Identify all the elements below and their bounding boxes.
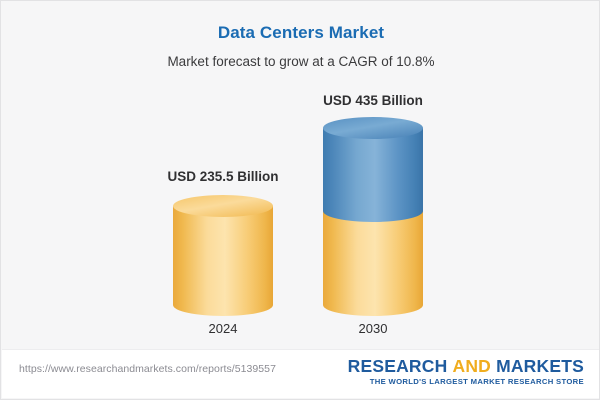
bar-cylinder-2024[interactable]	[173, 195, 273, 316]
brand-wordmark: RESEARCH AND MARKETS	[348, 356, 584, 376]
brand-word-research: RESEARCH	[348, 356, 448, 376]
chart-plot-area: USD 235.5 Billion	[1, 1, 600, 346]
chart-card: Data Centers Market Market forecast to g…	[0, 0, 600, 400]
chart-footer: https://www.researchandmarkets.com/repor…	[2, 349, 600, 398]
cylinder-2024-svg	[173, 195, 273, 316]
axis-label-2024: 2024	[153, 321, 293, 336]
bar-group-2024: USD 235.5 Billion	[153, 1, 293, 346]
brand-logo[interactable]: RESEARCH AND MARKETS THE WORLD'S LARGEST…	[348, 356, 584, 387]
bar-value-label-2030: USD 435 Billion	[303, 93, 443, 108]
bar-value-label-2024: USD 235.5 Billion	[153, 169, 293, 184]
cylinder-2030-svg	[323, 117, 423, 316]
bar-group-2030: USD 435 Billion	[303, 1, 443, 346]
brand-word-markets: MARKETS	[496, 356, 584, 376]
brand-word-and: AND	[452, 356, 491, 376]
bar-cylinder-2030[interactable]	[323, 117, 423, 316]
source-url-link[interactable]: https://www.researchandmarkets.com/repor…	[19, 363, 276, 375]
axis-label-2030: 2030	[303, 321, 443, 336]
brand-tagline: THE WORLD'S LARGEST MARKET RESEARCH STOR…	[348, 376, 584, 387]
